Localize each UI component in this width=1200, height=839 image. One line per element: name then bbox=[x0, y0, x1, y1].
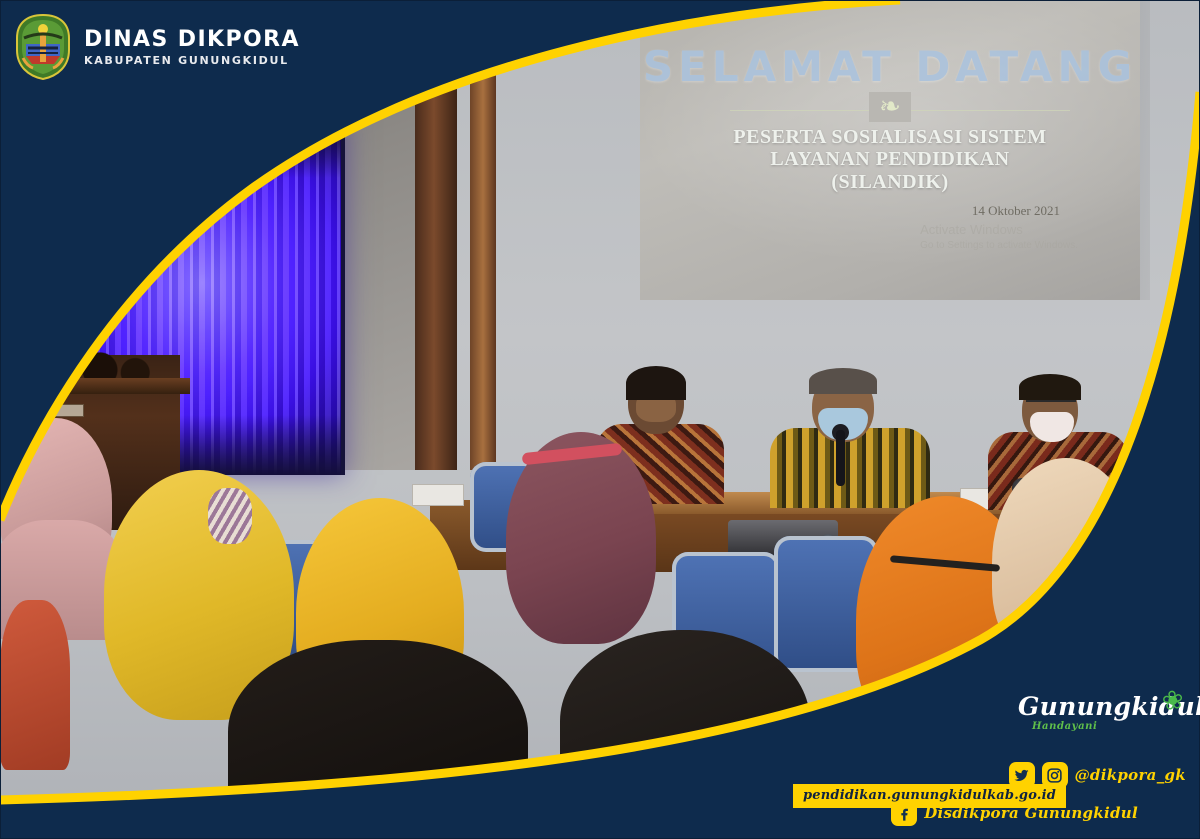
projection-screen: SELAMAT DATANG ❧ PESERTA SOSIALISASI SIS… bbox=[640, 0, 1140, 300]
microphone bbox=[836, 430, 845, 486]
slide-subtitle-line3: (SILANDIK) bbox=[640, 171, 1140, 193]
speaker-left-hair bbox=[626, 366, 686, 400]
curtain-rod-finial bbox=[348, 106, 364, 126]
wood-pilaster bbox=[470, 40, 496, 470]
social-handle: @dikpora_gk bbox=[1075, 766, 1186, 784]
poster-canvas: SELAMAT DATANG ❧ PESERTA SOSIALISASI SIS… bbox=[0, 0, 1200, 839]
audience-member-hijab-cream bbox=[992, 458, 1140, 668]
slide-title: SELAMAT DATANG bbox=[640, 42, 1140, 91]
speaker-right-hair bbox=[1019, 374, 1081, 400]
audience-member-foreground-dark bbox=[228, 640, 528, 839]
header: DINAS DIKPORA KABUPATEN GUNUNGKIDUL bbox=[0, 0, 300, 80]
windows-activation-watermark: Activate Windows Go to Settings to activ… bbox=[920, 221, 1078, 252]
watermark-line-1: Activate Windows bbox=[920, 221, 1078, 239]
hijab-brooch bbox=[208, 488, 252, 544]
curtain-shadow-top bbox=[64, 126, 341, 178]
header-title: DINAS DIKPORA bbox=[84, 28, 300, 51]
watermark-line-2: Go to Settings to activate Windows. bbox=[920, 239, 1078, 253]
website-url-bar[interactable]: pendidikan.gunungkidulkab.go.id bbox=[793, 784, 1066, 808]
gunungkidul-logo: ❀ Gunungkidul Handayani bbox=[990, 694, 1186, 746]
name-plate bbox=[412, 484, 464, 506]
wood-pilaster bbox=[415, 0, 457, 470]
header-text: DINAS DIKPORA KABUPATEN GUNUNGKIDUL bbox=[84, 28, 300, 67]
slide-subtitle-line1: PESERTA SOSIALISASI SISTEM bbox=[640, 126, 1140, 148]
podium-top bbox=[0, 378, 190, 394]
slide-ornament-icon: ❧ bbox=[640, 92, 1140, 122]
header-subtitle: KABUPATEN GUNUNGKIDUL bbox=[84, 55, 300, 67]
audience-member-hijab-red bbox=[0, 600, 70, 770]
leaf-flourish-icon: ❀ bbox=[1160, 685, 1186, 718]
slide-subtitle-line2: LAYANAN PENDIDIKAN bbox=[640, 148, 1140, 170]
slide-date: 14 Oktober 2021 bbox=[972, 203, 1060, 219]
podium-plaque bbox=[40, 404, 84, 417]
eyeglasses bbox=[1026, 400, 1076, 410]
curtain-rod bbox=[52, 112, 357, 121]
speaker-center-hair bbox=[809, 368, 877, 394]
curtain-rod-finial bbox=[44, 106, 60, 126]
handayani-tagline: Handayani bbox=[1032, 721, 1186, 732]
gunungkidul-regency-emblem-icon bbox=[14, 14, 72, 80]
gunungkidul-branding: ❀ Gunungkidul Handayani bbox=[990, 694, 1186, 746]
slide-subtitle: PESERTA SOSIALISASI SISTEM LAYANAN PENDI… bbox=[640, 126, 1140, 193]
audience-member-foreground-dark bbox=[560, 630, 810, 820]
website-url: pendidikan.gunungkidulkab.go.id bbox=[803, 788, 1056, 803]
